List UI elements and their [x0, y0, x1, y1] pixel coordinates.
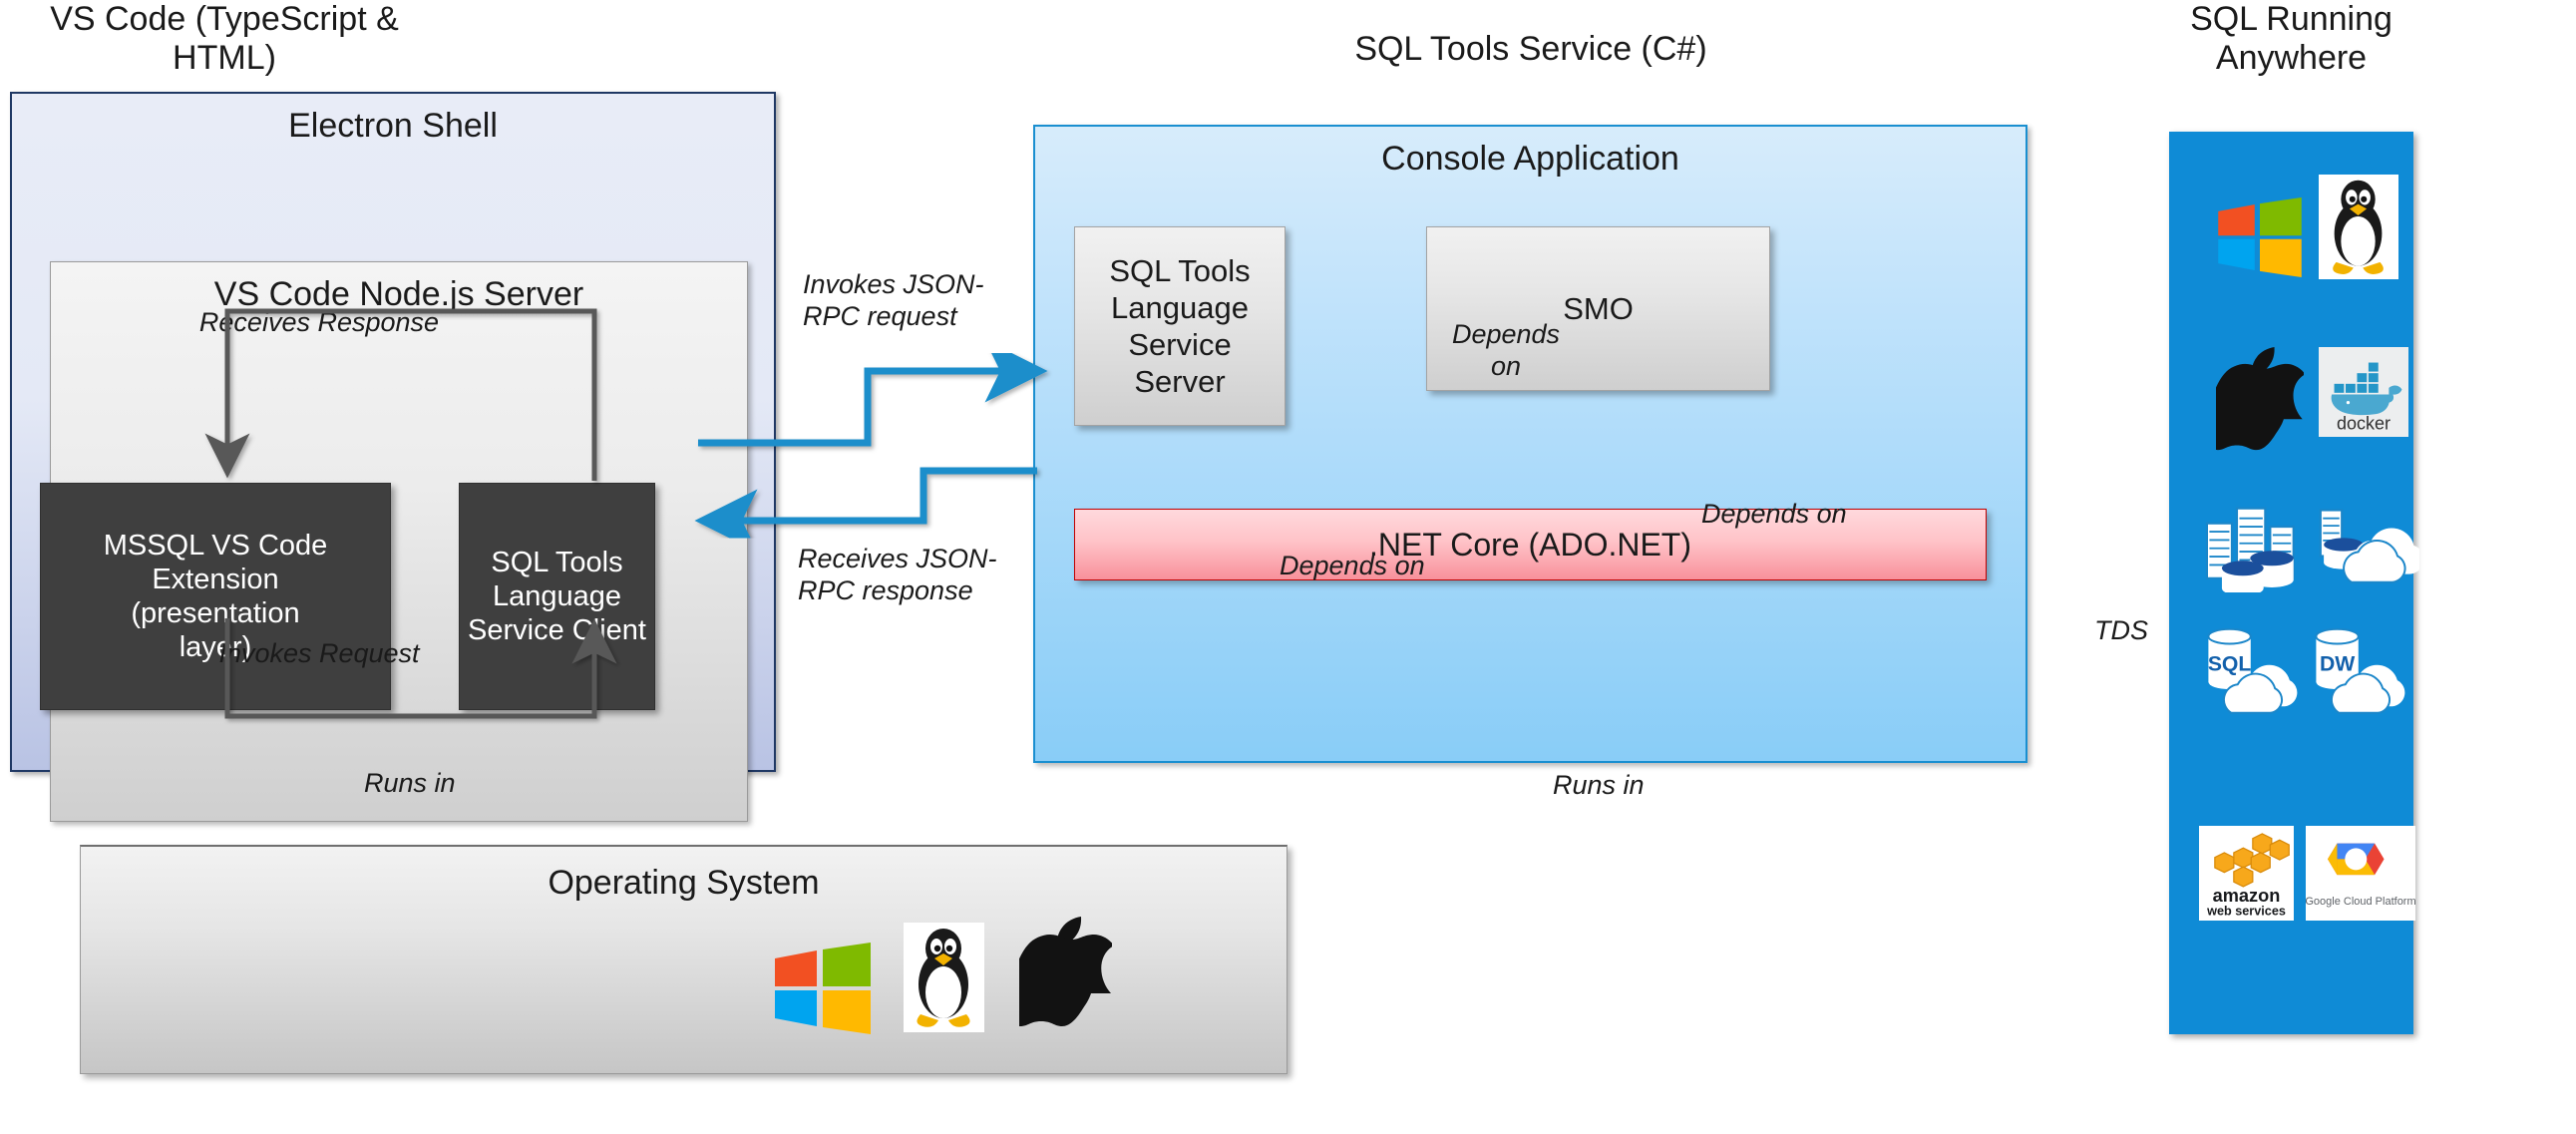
edge-label-runs-in-service: Runs in [1553, 770, 1752, 802]
apple-logo-icon [2216, 347, 2304, 452]
edge-label-depends-on-adonet-left: Depends on [1280, 551, 1489, 582]
docker-logo-text: docker [2337, 414, 2391, 434]
box-sql-tools-language-service-server: SQL Tools Language Service Server [1074, 226, 1286, 426]
azure-dw-label: DW [2320, 652, 2355, 675]
aws-sub-wordmark: web services [2206, 904, 2286, 918]
edge-label-tds: TDS [2066, 615, 2176, 647]
gcp-wordmark: Google Cloud Platform [2306, 896, 2415, 908]
private-cloud-database-icon [2312, 499, 2419, 590]
caption-sql-tools-service: SQL Tools Service (C#) [1262, 30, 1800, 69]
azure-sql-database-icon: SQL [2196, 628, 2308, 716]
edge-label-depends-on-adonet-right: Depends on [1701, 499, 1911, 531]
panel-console-application: Console Application SQL Tools Language S… [1033, 125, 2027, 763]
diagram-canvas: VS Code (TypeScript & HTML) SQL Tools Se… [0, 0, 2576, 1134]
linux-tux-icon [2319, 175, 2398, 279]
edge-label-invokes-json-rpc-request: Invokes JSON- RPC request [803, 269, 1017, 333]
box-mssql-vscode-extension: MSSQL VS Code Extension (presentation la… [40, 483, 391, 710]
box-sql-tools-language-service-server-label: SQL Tools Language Service Server [1083, 252, 1277, 401]
linux-tux-icon [904, 923, 984, 1032]
aws-wordmark: amazon [2213, 886, 2281, 906]
edge-label-invokes-request: Invokes Request [155, 638, 484, 670]
caption-sql-running-anywhere: SQL Running Anywhere [2169, 0, 2413, 78]
electron-shell-heading: Electron Shell [12, 108, 774, 145]
edge-label-runs-in-vscode: Runs in [364, 768, 563, 800]
console-application-heading: Console Application [1035, 141, 2025, 178]
windows-logo-icon [2216, 197, 2304, 277]
azure-sql-label: SQL [2208, 652, 2252, 675]
docker-logo-icon: docker [2319, 347, 2408, 437]
box-sql-tools-language-service-client-label: SQL Tools Language Service Client [468, 546, 646, 648]
apple-logo-icon [1019, 917, 1112, 1028]
operating-system-heading: Operating System [81, 865, 1287, 902]
google-cloud-platform-logo-icon: Google Cloud Platform [2306, 826, 2415, 921]
edge-label-depends-on-smo: Depends on [1436, 319, 1576, 383]
datacenter-database-icon [2198, 497, 2316, 592]
box-sql-tools-language-service-client: SQL Tools Language Service Client [459, 483, 655, 710]
caption-vscode: VS Code (TypeScript & HTML) [10, 0, 439, 78]
amazon-web-services-logo-icon: amazon web services [2199, 826, 2294, 921]
edge-label-receives-json-rpc-response: Receives JSON- RPC response [798, 544, 1022, 607]
windows-logo-icon [773, 943, 873, 1034]
azure-sql-data-warehouse-icon: DW [2304, 628, 2415, 716]
edge-label-receives-response: Receives Response [155, 307, 484, 339]
